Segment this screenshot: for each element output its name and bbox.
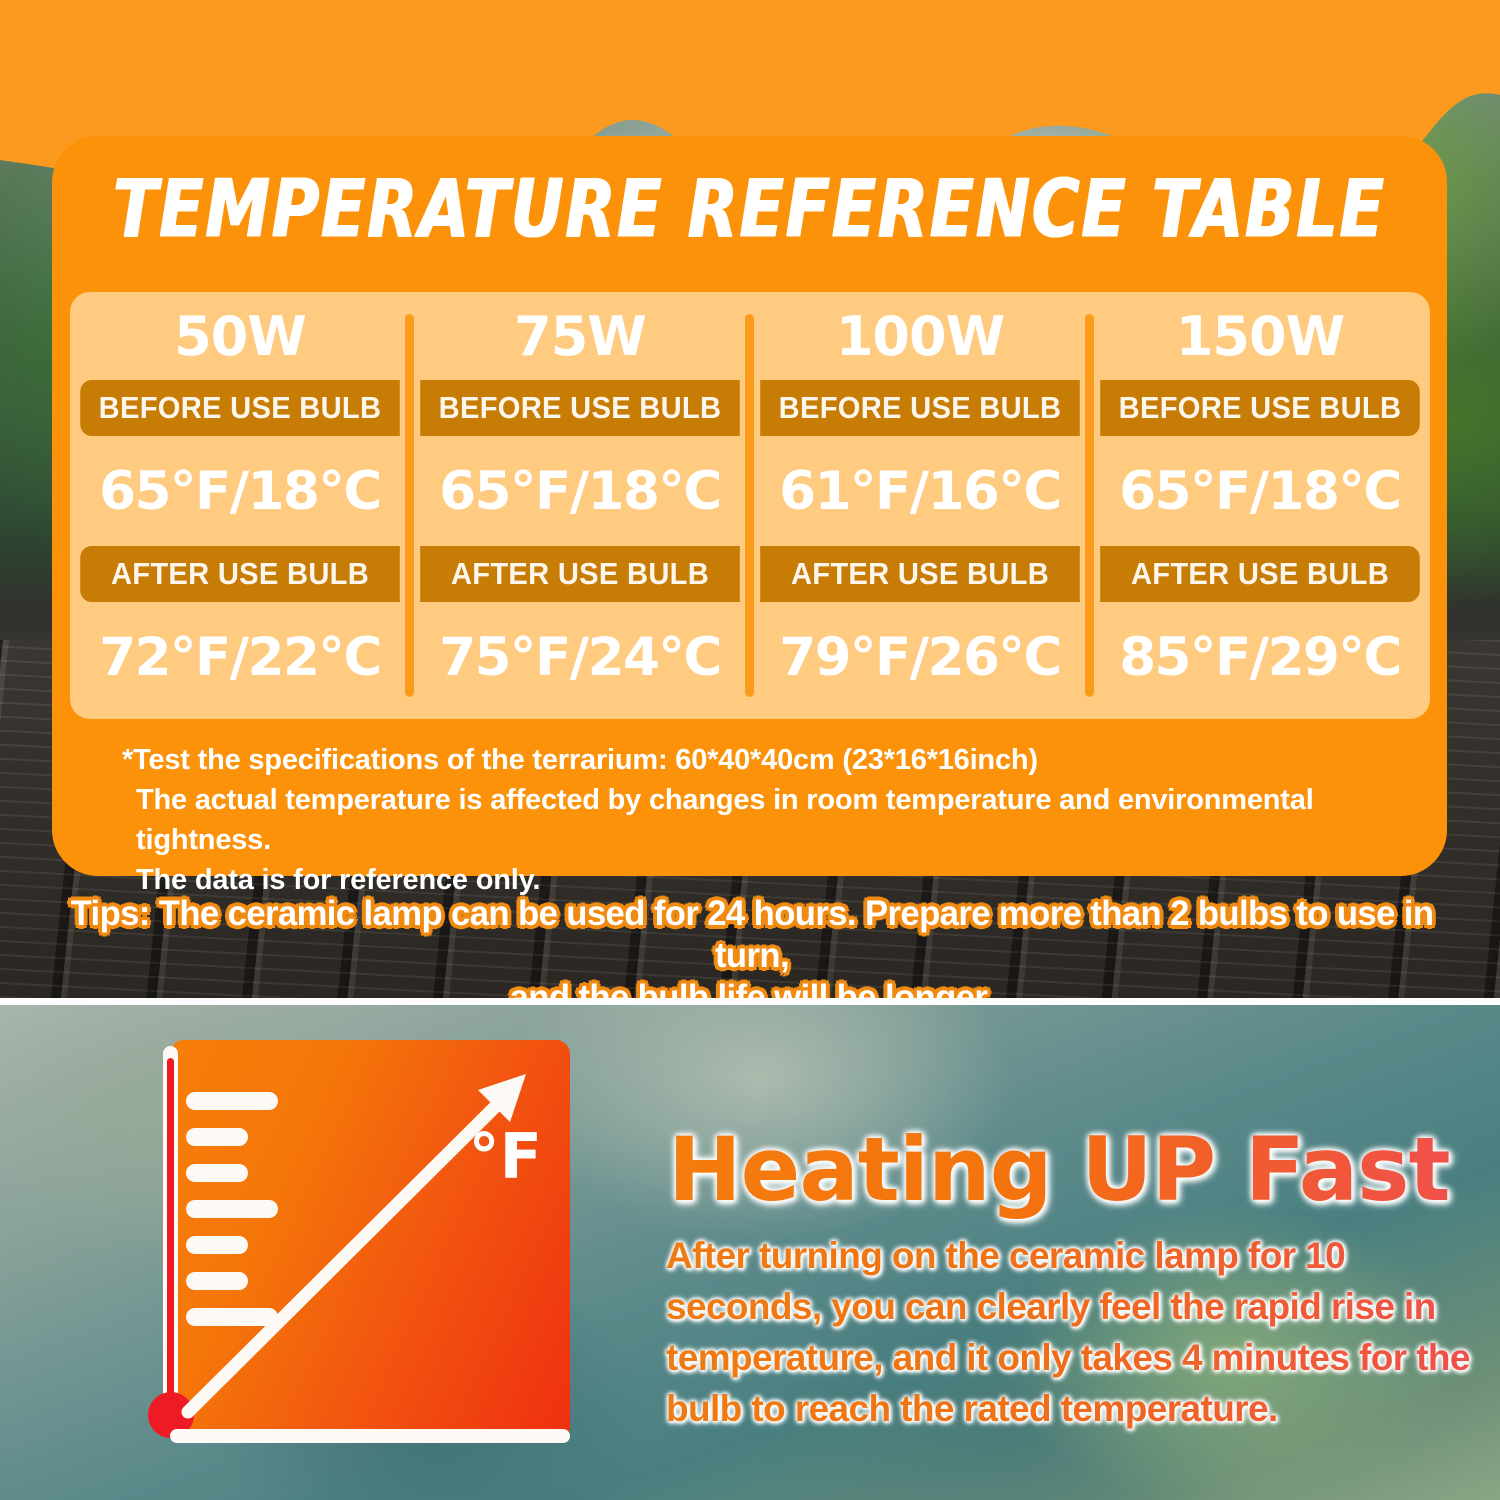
after-use-label: AFTER USE BULB xyxy=(760,546,1080,602)
table-column-50w: 50W BEFORE USE BULB 65°F/18°C AFTER USE … xyxy=(70,292,410,719)
table-column-100w: 100W BEFORE USE BULB 61°F/16°C AFTER USE… xyxy=(750,292,1090,719)
after-use-value: 72°F/22°C xyxy=(70,602,410,712)
after-use-label: AFTER USE BULB xyxy=(80,546,400,602)
after-use-value: 75°F/24°C xyxy=(410,602,750,712)
before-use-label: BEFORE USE BULB xyxy=(760,380,1080,436)
rising-arrow-icon xyxy=(178,1064,538,1420)
page-title: TEMPERATURE REFERENCE TABLE xyxy=(66,162,1433,256)
after-use-label: AFTER USE BULB xyxy=(420,546,740,602)
temperature-table: 50W BEFORE USE BULB 65°F/18°C AFTER USE … xyxy=(70,292,1430,719)
footnote-line-2: The actual temperature is affected by ch… xyxy=(122,780,1422,860)
before-use-value: 65°F/18°C xyxy=(410,436,750,546)
tips-text: Tips: The ceramic lamp can be used for 2… xyxy=(63,893,1441,998)
before-use-value: 65°F/18°C xyxy=(1090,436,1430,546)
section-divider xyxy=(0,998,1500,1005)
temperature-reference-card: TEMPERATURE REFERENCE TABLE 50W BEFORE U… xyxy=(52,136,1447,876)
before-use-label: BEFORE USE BULB xyxy=(80,380,400,436)
after-use-value: 79°F/26°C xyxy=(750,602,1090,712)
after-use-label: AFTER USE BULB xyxy=(1100,546,1420,602)
wattage-label: 50W xyxy=(70,292,410,380)
before-use-value: 61°F/16°C xyxy=(750,436,1090,546)
wattage-label: 100W xyxy=(750,292,1090,380)
before-use-value: 65°F/18°C xyxy=(70,436,410,546)
x-axis-line xyxy=(170,1429,570,1443)
wattage-label: 75W xyxy=(410,292,750,380)
heating-body-text: After turning on the ceramic lamp for 10… xyxy=(666,1230,1476,1434)
footnote-text: *Test the specifications of the terrariu… xyxy=(122,740,1422,900)
tips-line-1: Tips: The ceramic lamp can be used for 2… xyxy=(63,893,1441,977)
thermometer-fill-icon xyxy=(167,1058,174,1426)
table-column-150w: 150W BEFORE USE BULB 65°F/18°C AFTER USE… xyxy=(1090,292,1430,719)
top-section: TEMPERATURE REFERENCE TABLE 50W BEFORE U… xyxy=(0,0,1500,998)
heating-chart-icon: °F xyxy=(170,1040,570,1440)
tips-line-2: and the bulb life will be longer. xyxy=(63,977,1441,998)
wattage-label: 150W xyxy=(1090,292,1430,380)
degrees-fahrenheit-label: °F xyxy=(469,1126,542,1188)
footnote-line-1: *Test the specifications of the terrariu… xyxy=(122,740,1422,780)
table-column-75w: 75W BEFORE USE BULB 65°F/18°C AFTER USE … xyxy=(410,292,750,719)
after-use-value: 85°F/29°C xyxy=(1090,602,1430,712)
before-use-label: BEFORE USE BULB xyxy=(420,380,740,436)
before-use-label: BEFORE USE BULB xyxy=(1100,380,1420,436)
heating-headline: Heating UP Fast xyxy=(668,1118,1450,1221)
